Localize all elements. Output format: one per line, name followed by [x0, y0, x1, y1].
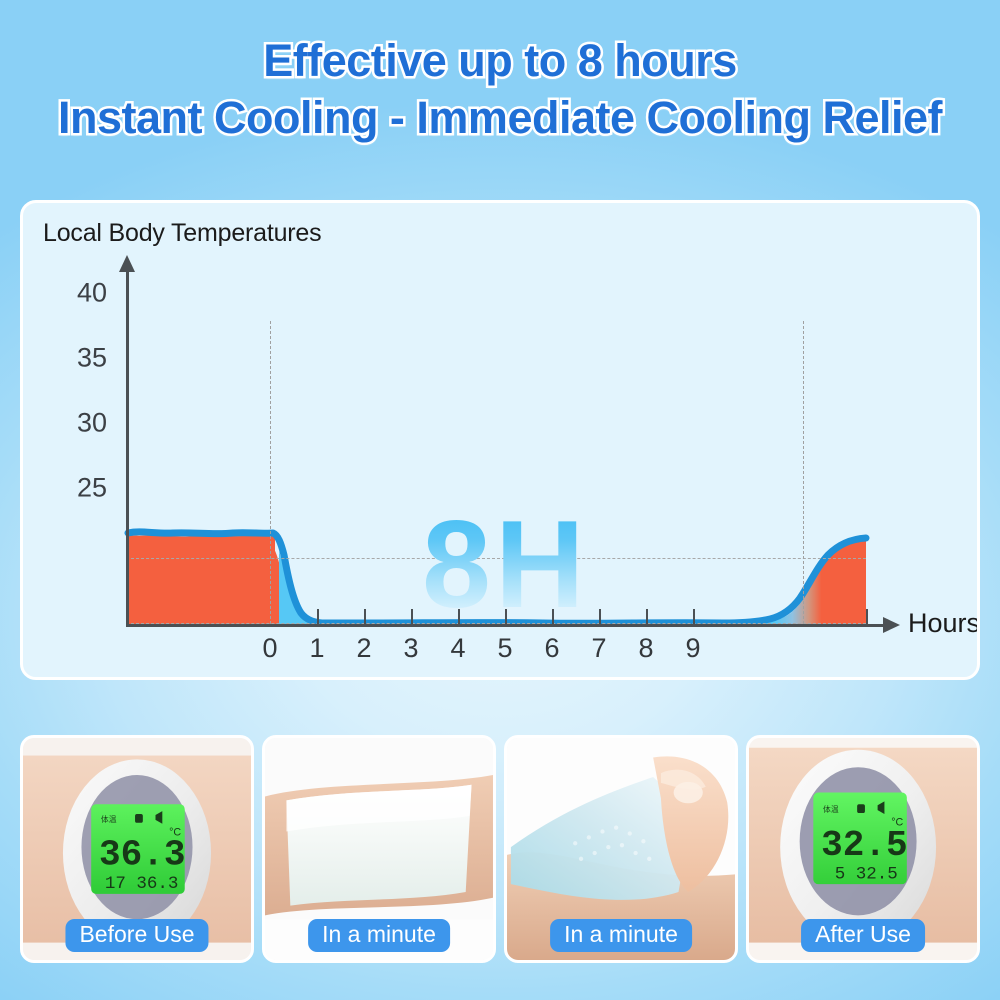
- x-axis-title: Hours: [908, 608, 980, 639]
- svg-text:°C: °C: [169, 826, 181, 838]
- photo-before-use[interactable]: 体温 36.3 °C 17 36.3 Before Use: [20, 735, 254, 963]
- photo-strip: 体温 36.3 °C 17 36.3 Before Use: [20, 735, 980, 963]
- gridline-hour-0: [270, 321, 271, 624]
- y-axis-labels: 40 35 30 25: [61, 203, 107, 680]
- x-label-2: 2: [344, 633, 384, 664]
- region-before-use: [128, 534, 275, 624]
- svg-text:32.5: 32.5: [821, 825, 908, 866]
- photo-in-a-minute-2[interactable]: In a minute: [504, 735, 738, 963]
- svg-text:°C: °C: [891, 817, 903, 829]
- x-label-8: 8: [626, 633, 666, 664]
- svg-text:17 36.3: 17 36.3: [105, 874, 179, 894]
- y-axis-arrow: [119, 255, 135, 272]
- x-tick-7: [599, 609, 601, 625]
- photo-caption: After Use: [801, 919, 925, 952]
- region-during-use: [281, 558, 803, 624]
- x-label-0: 0: [250, 633, 290, 664]
- heading-line-1: Effective up to 8 hours: [0, 38, 1000, 84]
- x-tick-end: [866, 609, 868, 625]
- x-axis-arrow: [883, 617, 900, 633]
- x-label-4: 4: [438, 633, 478, 664]
- heading-block: Effective up to 8 hours Instant Cooling …: [0, 38, 1000, 141]
- heading-line-2: Instant Cooling - Immediate Cooling Reli…: [0, 95, 1000, 141]
- x-label-5: 5: [485, 633, 525, 664]
- photo-caption: Before Use: [65, 919, 208, 952]
- x-tick-6: [552, 609, 554, 625]
- photo-caption: In a minute: [550, 919, 692, 952]
- y-tick-35: 35: [61, 343, 107, 374]
- x-label-9: 9: [673, 633, 713, 664]
- x-tick-1: [317, 609, 319, 625]
- y-tick-40: 40: [61, 278, 107, 309]
- svg-text:体温: 体温: [823, 804, 839, 814]
- x-tick-2: [364, 609, 366, 625]
- gridline-hour-8: [803, 321, 804, 624]
- photo-after-use[interactable]: 体温 32.5 °C 5 32.5 After Use: [746, 735, 980, 963]
- x-label-6: 6: [532, 633, 572, 664]
- y-axis-line: [126, 269, 129, 626]
- x-label-1: 1: [297, 633, 337, 664]
- x-label-3: 3: [391, 633, 431, 664]
- x-label-7: 7: [579, 633, 619, 664]
- y-tick-30: 30: [61, 408, 107, 439]
- x-tick-8: [646, 609, 648, 625]
- svg-text:体温: 体温: [101, 814, 117, 824]
- x-tick-9: [693, 609, 695, 625]
- region-during-use-top: [279, 551, 801, 625]
- temperature-chart-card: Local Body Temperatures: [20, 200, 980, 680]
- svg-text:5 32.5: 5 32.5: [835, 864, 898, 884]
- chart-area-svg: [23, 203, 980, 680]
- gridline-35: [126, 558, 866, 559]
- x-tick-5: [505, 609, 507, 625]
- photo-caption: In a minute: [308, 919, 450, 952]
- y-tick-25: 25: [61, 473, 107, 504]
- chart-plot-area: 8H 40 35 30 25 Hours 0 1 2 3 4 5 6 7: [23, 203, 980, 680]
- photo-in-a-minute-1[interactable]: In a minute: [262, 735, 496, 963]
- x-tick-3: [411, 609, 413, 625]
- svg-text:36.3: 36.3: [99, 835, 186, 876]
- x-tick-4: [458, 609, 460, 625]
